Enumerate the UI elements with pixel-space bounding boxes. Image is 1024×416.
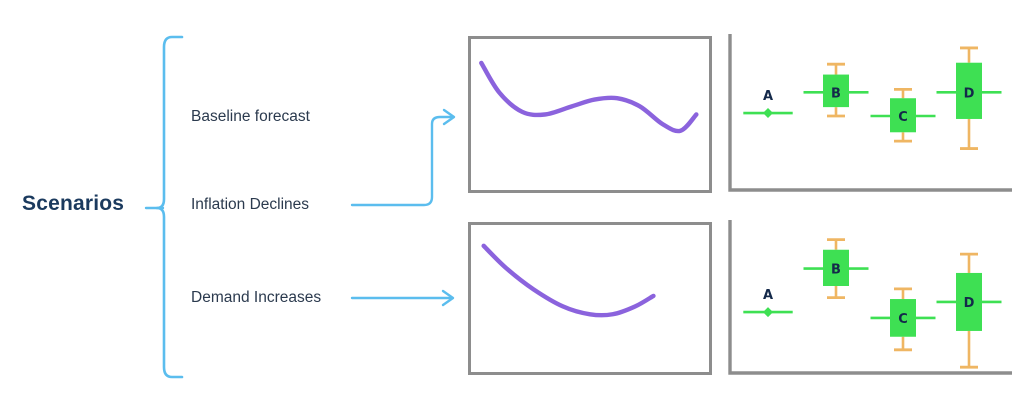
- box-plot-d: D: [937, 254, 1002, 367]
- box-label-a: A: [763, 288, 773, 303]
- box-plot-b: B: [804, 240, 869, 298]
- line-chart-bottom-panel: [468, 222, 712, 375]
- box-label-d: D: [964, 86, 975, 101]
- box-plot-a: A: [743, 288, 792, 317]
- line-series-baseline-forecast: [481, 63, 696, 131]
- scenario-label-demand-increases: Demand Increases: [191, 289, 321, 307]
- box-label-b: B: [831, 263, 841, 278]
- box-plot-b: B: [804, 64, 869, 116]
- page-title: Scenarios: [22, 192, 152, 216]
- box-plot-d: D: [937, 48, 1002, 149]
- box-label-c: C: [898, 312, 908, 327]
- box-plot-c: C: [871, 89, 936, 141]
- arrow-to-top-panel: [352, 117, 452, 205]
- scenarios-bracket: [157, 37, 182, 377]
- box-plot-c: C: [871, 289, 936, 350]
- diagram-canvas: Scenarios Baseline forecast Inflation De…: [0, 0, 1024, 416]
- line-chart-top-panel: [468, 36, 712, 193]
- line-chart-bottom-plot: [471, 225, 709, 372]
- box-label-d: D: [964, 296, 975, 311]
- line-series-demand-increase: [484, 246, 654, 315]
- box-chart-bottom-plot: ABCD: [726, 218, 1014, 378]
- box-chart-top-panel: ABCD: [726, 32, 1014, 195]
- box-chart-bottom-panel: ABCD: [726, 218, 1014, 378]
- point-marker-diamond-a: [763, 307, 773, 317]
- box-label-c: C: [898, 110, 908, 125]
- box-chart-top-plot: ABCD: [726, 32, 1014, 195]
- box-label-b: B: [831, 86, 841, 101]
- arrow-to-top-panel-head: [444, 110, 454, 124]
- box-plot-a: A: [743, 89, 792, 118]
- arrow-to-bottom-panel-head: [443, 291, 453, 305]
- box-chart-top-marks: ABCD: [743, 48, 1001, 149]
- point-marker-diamond-a: [763, 108, 773, 118]
- box-label-a: A: [763, 89, 773, 104]
- scenario-label-inflation-declines: Inflation Declines: [191, 196, 309, 214]
- box-chart-bottom-marks: ABCD: [743, 240, 1001, 368]
- line-chart-top-plot: [471, 39, 709, 190]
- scenario-label-baseline-forecast: Baseline forecast: [191, 108, 310, 126]
